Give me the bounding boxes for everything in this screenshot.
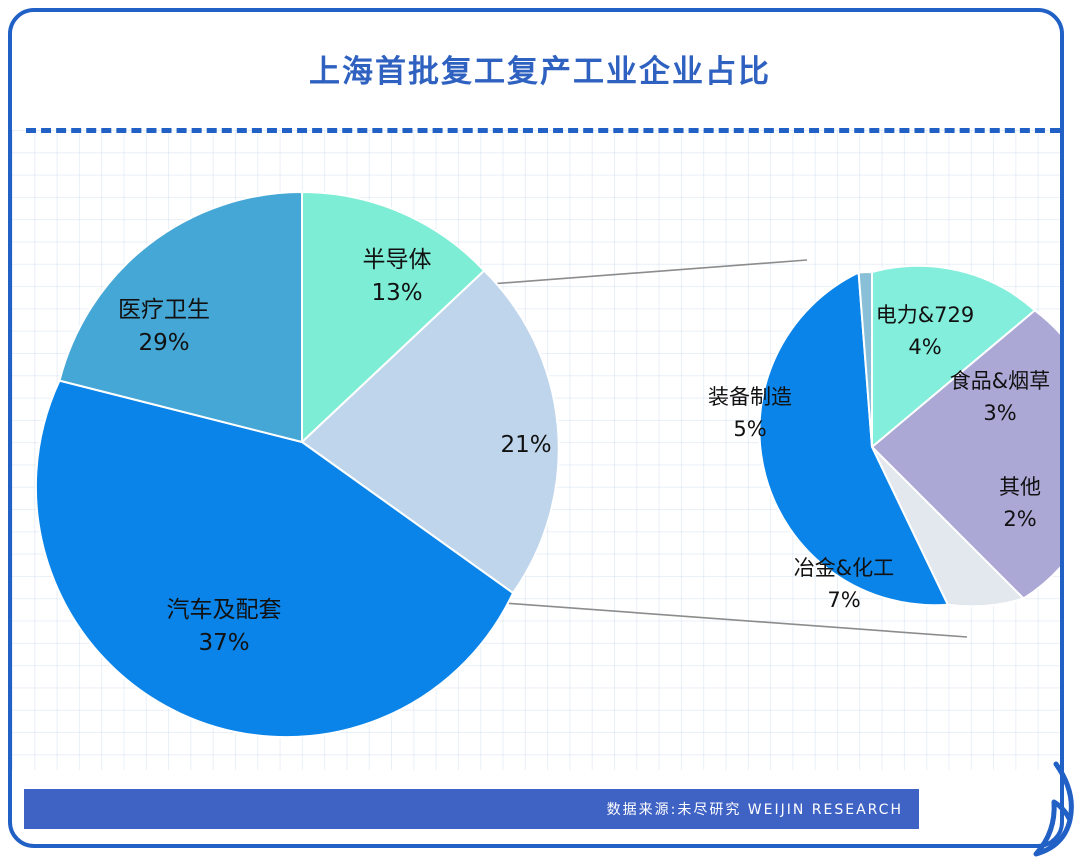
source-bar: 数据来源:未尽研究 WEIJIN RESEARCH (24, 789, 919, 829)
pie-of-pie-chart: 半导体 13% 21% 汽车及配套 37% 医疗卫生 29% (12, 132, 1064, 772)
connector-line-bottom (490, 602, 967, 637)
main-label-semiconductor-pct: 13% (371, 280, 422, 306)
connector-line-top (490, 260, 807, 284)
secondary-label-food-tobacco-pct: 3% (983, 401, 1016, 425)
secondary-pie: 电力&729 4% 食品&烟草 3% 其他 2% 冶金&化工 7% 装备制造 5… (708, 266, 1064, 612)
main-label-automotive-name: 汽车及配套 (167, 597, 282, 623)
main-label-healthcare-pct: 29% (138, 330, 189, 356)
secondary-label-others-pct: 2% (1003, 507, 1036, 531)
secondary-label-metallurgy-name: 冶金&化工 (794, 556, 894, 580)
secondary-label-equipment-name: 装备制造 (708, 385, 792, 409)
main-pie: 半导体 13% 21% 汽车及配套 37% 医疗卫生 29% (36, 192, 559, 737)
main-label-semiconductor-name: 半导体 (363, 247, 432, 273)
secondary-label-power-name: 电力&729 (876, 303, 974, 327)
secondary-label-metallurgy-pct: 7% (827, 588, 860, 612)
secondary-label-power-pct: 4% (908, 335, 941, 359)
title-divider (26, 128, 1060, 133)
secondary-label-equipment-pct: 5% (733, 417, 766, 441)
main-label-automotive-pct: 37% (198, 630, 249, 656)
main-label-healthcare-name: 医疗卫生 (118, 297, 210, 323)
chart-card: 半导体 13% 21% 汽车及配套 37% 医疗卫生 29% (8, 8, 1064, 848)
source-label: 数据来源:未尽研究 WEIJIN RESEARCH (607, 799, 919, 819)
main-label-other-group-pct: 21% (500, 432, 551, 458)
title-bar: 上海首批复工复产工业企业占比 (12, 12, 1064, 124)
secondary-label-others-name: 其他 (999, 475, 1041, 499)
page-title: 上海首批复工复产工业企业占比 (309, 46, 771, 91)
chart-svg: 半导体 13% 21% 汽车及配套 37% 医疗卫生 29% (12, 132, 1064, 772)
secondary-label-food-tobacco-name: 食品&烟草 (950, 369, 1050, 393)
